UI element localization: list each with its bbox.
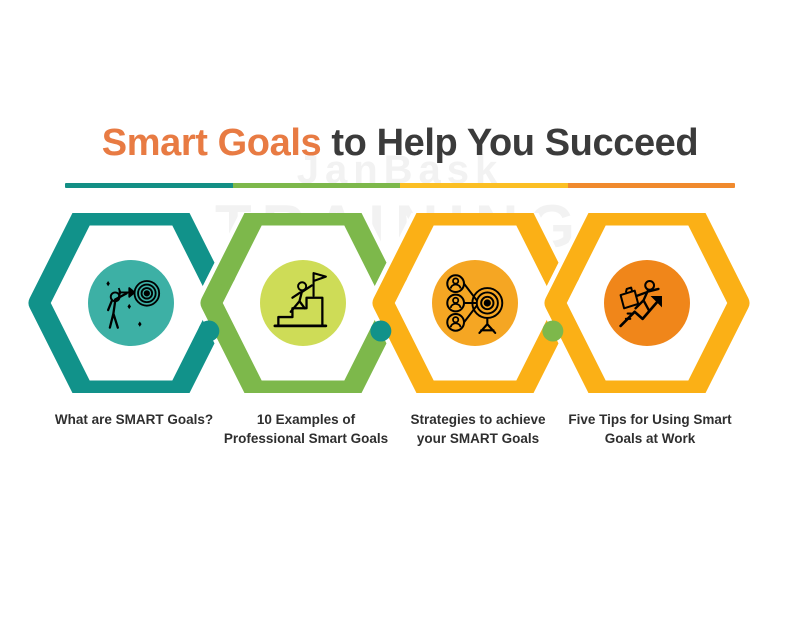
hexagon-connector-nub-1: [198, 321, 219, 342]
hexagon-chain: [0, 213, 800, 393]
step-circle-2: [260, 260, 346, 346]
divider-segment-yellow: [400, 183, 568, 188]
step-caption-3: Strategies to achieve your SMART Goals: [394, 410, 562, 448]
hexagon-connector-nub-2: [370, 321, 391, 342]
step-caption-4: Five Tips for Using Smart Goals at Work: [566, 410, 734, 448]
hexagon-step-3[interactable]: [383, 215, 567, 391]
title-accent-text: Smart Goals: [102, 122, 321, 164]
hexagon-step-2[interactable]: [211, 215, 395, 391]
hexagon-step-1[interactable]: [39, 215, 223, 391]
caption-row: What are SMART Goals? 10 Examples of Pro…: [0, 410, 800, 490]
hexagon-step-4[interactable]: [555, 215, 739, 391]
step-caption-1: What are SMART Goals?: [50, 410, 218, 429]
title-rest-text: to Help You Succeed: [321, 122, 698, 164]
hexagon-connector-nub-upper-2: [387, 265, 408, 286]
divider-segment-green: [233, 183, 401, 188]
step-circle-1: [88, 260, 174, 346]
hexagon-connector-nub-upper-3: [559, 265, 580, 286]
step-circle-4: [604, 260, 690, 346]
page-title: Smart Goals to Help You Succeed: [0, 118, 800, 168]
hexagon-connector-nub-upper-1: [215, 265, 236, 286]
hexagon-connector-nub-3: [542, 321, 563, 342]
divider-segment-teal: [65, 183, 233, 188]
divider-segment-orange: [568, 183, 736, 188]
divider-bar: [65, 183, 735, 188]
step-caption-2: 10 Examples of Professional Smart Goals: [222, 410, 390, 448]
infographic-canvas: JanBask TRAINING Learn To Lead Smart Goa…: [0, 0, 800, 627]
